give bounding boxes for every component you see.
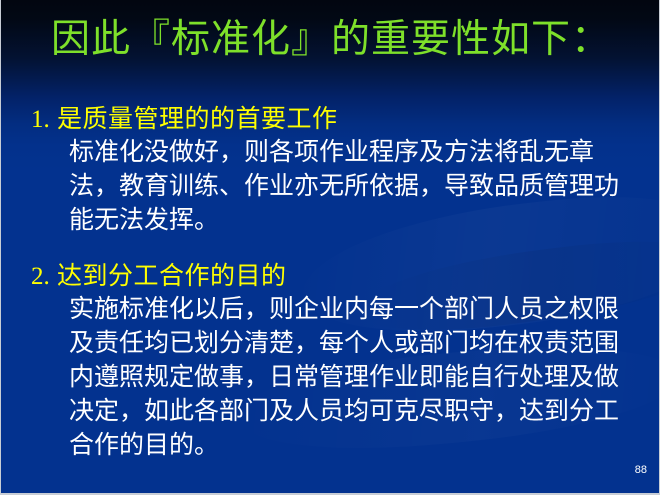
list-item-marker: 2. <box>31 260 57 293</box>
list-item-heading: 1. 是质量管理的的首要工作 <box>1 103 660 136</box>
body-line: 能无法发挥。 <box>69 204 647 238</box>
list-item-body: 实施标准化以后，则企业内每一个部门人员之权限 及责任均已划分清楚，每个人或部门均… <box>1 293 660 463</box>
slide-body-list: 1. 是质量管理的的首要工作 标准化没做好，则各项作业程序及方法将乱无章 法，教… <box>1 103 660 475</box>
body-line: 实施标准化以后，则企业内每一个部门人员之权限 <box>69 293 647 327</box>
presentation-slide: 因此『标准化』的重要性如下： 1. 是质量管理的的首要工作 标准化没做好，则各项… <box>0 0 660 495</box>
body-line: 及责任均已划分清楚，每个人或部门均在权责范围 <box>69 327 647 361</box>
list-item-marker: 1. <box>31 103 57 136</box>
page-number: 88 <box>635 464 647 477</box>
body-line: 法，教育训练、作业亦无所依据，导致品质管理功 <box>69 170 647 204</box>
list-item-body: 标准化没做好，则各项作业程序及方法将乱无章 法，教育训练、作业亦无所依据，导致品… <box>1 136 660 238</box>
list-item: 1. 是质量管理的的首要工作 标准化没做好，则各项作业程序及方法将乱无章 法，教… <box>1 103 660 238</box>
body-line: 合作的目的。 <box>69 429 647 463</box>
list-item-title: 是质量管理的的首要工作 <box>57 103 338 136</box>
list-item-title: 达到分工合作的目的 <box>57 260 287 293</box>
body-line: 决定，如此各部门及人员均可克尽职守，达到分工 <box>69 395 647 429</box>
body-line: 内遵照规定做事，日常管理作业即能自行处理及做 <box>69 361 647 395</box>
body-line: 标准化没做好，则各项作业程序及方法将乱无章 <box>69 136 647 170</box>
slide-title: 因此『标准化』的重要性如下： <box>1 17 660 63</box>
list-item: 2. 达到分工合作的目的 实施标准化以后，则企业内每一个部门人员之权限 及责任均… <box>1 260 660 463</box>
list-item-heading: 2. 达到分工合作的目的 <box>1 260 660 293</box>
